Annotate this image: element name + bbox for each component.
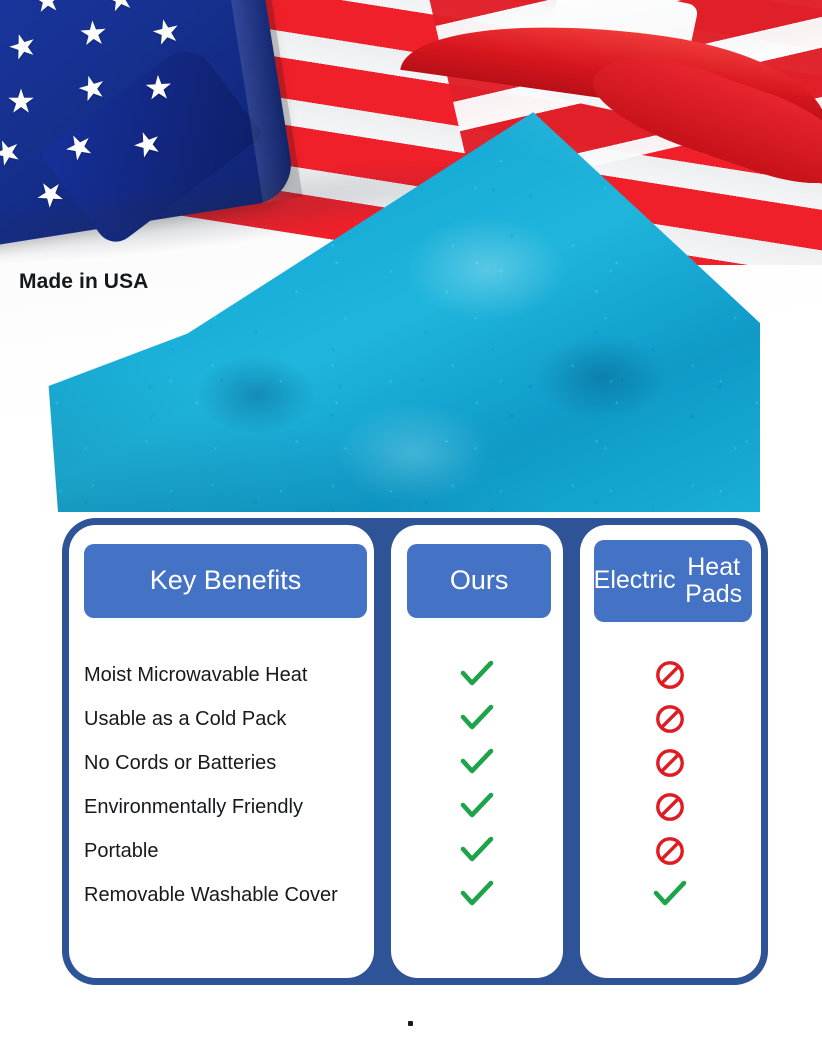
- flag-star-icon: ★: [77, 15, 109, 50]
- table-row: [580, 829, 761, 873]
- column-key-benefits: Key Benefits Moist Microwavable Heat Usa…: [69, 525, 374, 978]
- cell-electric-2: [580, 748, 761, 778]
- cell-ours-4: [391, 836, 563, 866]
- table-row: [391, 741, 563, 785]
- cell-electric-5: [580, 880, 761, 910]
- table-row: Usable as a Cold Pack: [84, 697, 374, 741]
- ours-value-list: [391, 653, 563, 917]
- table-row: [391, 785, 563, 829]
- table-row: [391, 653, 563, 697]
- column-ours: Ours: [391, 525, 563, 978]
- flag-star-icon: ★: [0, 131, 27, 173]
- green-check-icon: [460, 660, 494, 690]
- cell-ours-2: [391, 748, 563, 778]
- header-line-2: Heat Pads: [676, 554, 752, 609]
- benefit-label: Usable as a Cold Pack: [84, 708, 286, 731]
- benefit-label: Removable Washable Cover: [84, 884, 338, 907]
- green-check-icon: [460, 748, 494, 778]
- table-row: [580, 785, 761, 829]
- table-row: Environmentally Friendly: [84, 785, 374, 829]
- benefit-label: No Cords or Batteries: [84, 752, 276, 775]
- red-prohibition-icon: [655, 704, 685, 734]
- electric-value-list: [580, 653, 761, 917]
- column-header-key-benefits: Key Benefits: [84, 544, 367, 618]
- flag-star-icon: ★: [31, 0, 63, 17]
- red-prohibition-icon: [655, 792, 685, 822]
- table-row: [391, 873, 563, 917]
- flag-star-icon: ★: [143, 70, 174, 105]
- table-row: [580, 653, 761, 697]
- table-row: No Cords or Batteries: [84, 741, 374, 785]
- table-row: [580, 741, 761, 785]
- table-row: [391, 829, 563, 873]
- column-electric-heat-pads: Electric Heat Pads: [580, 525, 761, 978]
- red-prohibition-icon: [655, 748, 685, 778]
- flag-star-icon: ★: [148, 12, 184, 51]
- cell-ours-0: [391, 660, 563, 690]
- flag-star-icon: ★: [102, 0, 138, 17]
- benefit-label: Environmentally Friendly: [84, 796, 303, 819]
- cell-ours-1: [391, 704, 563, 734]
- made-in-usa-label: Made in USA: [19, 270, 148, 294]
- table-row: Moist Microwavable Heat: [84, 653, 374, 697]
- flag-star-icon: ★: [6, 84, 36, 117]
- table-row: [580, 697, 761, 741]
- flag-star-icon: ★: [3, 26, 41, 66]
- cell-electric-1: [580, 704, 761, 734]
- benefit-label-list: Moist Microwavable Heat Usable as a Cold…: [69, 653, 374, 917]
- cell-electric-0: [580, 660, 761, 690]
- green-check-icon: [460, 880, 494, 910]
- cell-electric-4: [580, 836, 761, 866]
- product-photo: ★ ★ ★ ★ ★ ★ ★ ★ ★ ★ ★ ★ ★ ★ ★ ★ Made in …: [0, 0, 822, 512]
- cell-electric-3: [580, 792, 761, 822]
- column-header-electric-heat-pads: Electric Heat Pads: [594, 540, 752, 622]
- green-check-icon: [460, 792, 494, 822]
- cell-ours-3: [391, 792, 563, 822]
- table-row: Removable Washable Cover: [84, 873, 374, 917]
- red-prohibition-icon: [655, 836, 685, 866]
- green-check-icon: [460, 836, 494, 866]
- comparison-table: Key Benefits Moist Microwavable Heat Usa…: [62, 518, 768, 985]
- benefit-label: Portable: [84, 840, 159, 863]
- red-prohibition-icon: [655, 660, 685, 690]
- header-line-1: Electric: [594, 567, 676, 595]
- flag-star-icon: ★: [73, 68, 111, 108]
- column-header-ours: Ours: [407, 544, 551, 618]
- cell-ours-5: [391, 880, 563, 910]
- table-row: [391, 697, 563, 741]
- green-check-icon: [653, 880, 687, 910]
- page-marker-dot: [408, 1021, 413, 1026]
- table-row: [580, 873, 761, 917]
- table-row: Portable: [84, 829, 374, 873]
- benefit-label: Moist Microwavable Heat: [84, 664, 307, 687]
- green-check-icon: [460, 704, 494, 734]
